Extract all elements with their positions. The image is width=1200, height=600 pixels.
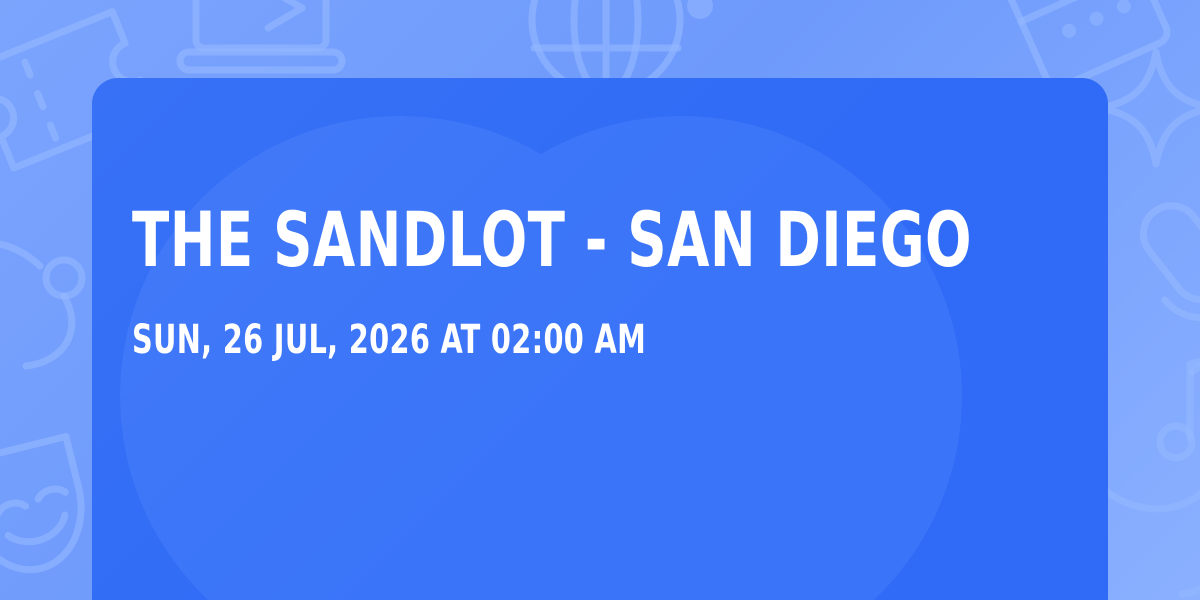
confetti-icon: [0, 242, 82, 366]
event-hero-card: The Sandlot - San Diego Sun, 26 Jul, 202…: [92, 78, 1108, 600]
laptop-icon: [180, 0, 342, 70]
sparkle-icon: [1100, 52, 1200, 164]
event-title: The Sandlot - San Diego: [132, 202, 881, 278]
event-text-block: The Sandlot - San Diego Sun, 26 Jul, 202…: [132, 202, 1068, 360]
event-datetime: Sun, 26 Jul, 2026 at 02:00 AM: [132, 320, 881, 360]
confetti-dot-icon: [687, 0, 713, 19]
event-hero-banner: The Sandlot - San Diego Sun, 26 Jul, 202…: [0, 0, 1200, 600]
music-note-icon: [1160, 352, 1200, 458]
microphone-icon: [1118, 183, 1200, 363]
